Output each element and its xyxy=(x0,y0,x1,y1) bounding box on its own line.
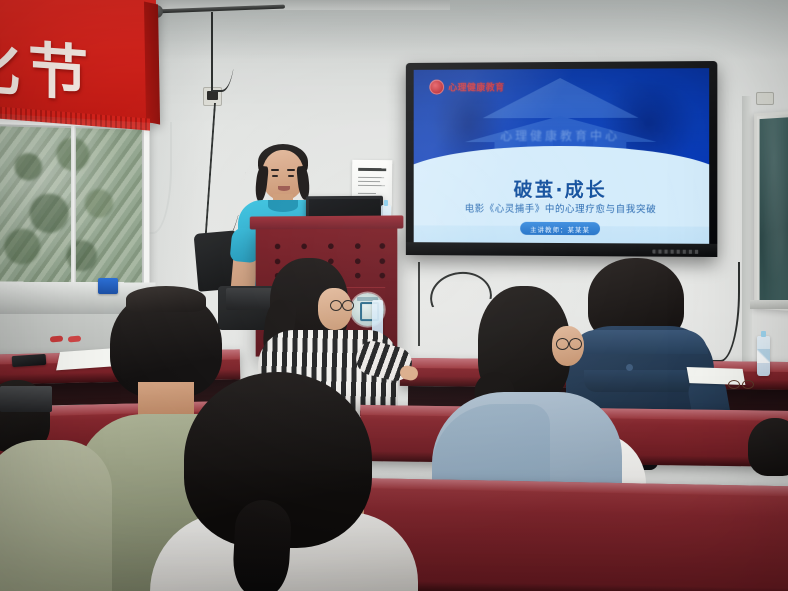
audience-olive-shirt-man-hair-top xyxy=(126,286,206,312)
notice-line xyxy=(358,185,385,187)
chalkboard-surface xyxy=(760,117,788,305)
water-bottle-desk-right xyxy=(757,336,770,376)
podium-top-surface xyxy=(250,215,404,229)
presenter-mouth xyxy=(278,186,290,191)
audience-far-left-person-torso xyxy=(0,440,112,591)
equipment-box-left xyxy=(0,386,52,412)
wall-mounted-tv: 心理健康教育中心 心理健康教育 破茧·成长 电影《心灵捕手》中的心理疗愈与自我突… xyxy=(406,61,717,257)
left-window xyxy=(0,118,149,302)
mobile-phone[interactable] xyxy=(12,354,47,367)
av-equipment-box xyxy=(226,288,272,310)
presenter-eye xyxy=(288,175,294,177)
bottle-label xyxy=(757,349,770,363)
chalk-smudges xyxy=(760,117,788,305)
chalkboard-tray xyxy=(750,300,788,309)
audience-far-right-person-head xyxy=(748,418,788,476)
notice-line xyxy=(358,193,376,195)
presenter-brow xyxy=(271,169,279,171)
presenter-eye xyxy=(272,175,278,177)
classroom-photo-scene: 化节 xyxy=(0,0,788,591)
audience-navy-jacket-flap xyxy=(584,370,698,392)
light-switch[interactable] xyxy=(756,92,774,105)
notice-header-bar xyxy=(358,168,386,171)
tv-indicator-lights xyxy=(652,250,699,254)
tv-screen: 心理健康教育中心 心理健康教育 破茧·成长 电影《心灵捕手》中的心理疗愈与自我突… xyxy=(414,68,710,244)
tv-bottom-bezel xyxy=(406,242,717,257)
eyeglasses-on-desk-icon xyxy=(728,380,754,388)
audience-navy-jacket-shoulder xyxy=(572,330,708,354)
presenter-brow xyxy=(287,169,295,171)
presentation-slide: 心理健康教育中心 心理健康教育 破茧·成长 电影《心灵捕手》中的心理疗愈与自我突… xyxy=(414,68,710,244)
eyeglasses-icon xyxy=(556,338,582,348)
banner-text: 化节 xyxy=(0,17,160,118)
jacket-button xyxy=(626,364,633,371)
slide-presenter-badge: 主讲教师：某某某 xyxy=(520,222,600,235)
window-sill-blue-box xyxy=(98,278,118,294)
right-chalkboard xyxy=(754,110,788,311)
slide-logo-text: 心理健康教育 xyxy=(448,81,504,94)
slide-logo-seal-icon xyxy=(430,80,445,95)
slide-logo: 心理健康教育 xyxy=(430,80,505,95)
eyeglasses-icon xyxy=(330,300,354,309)
audience-ponytail-woman-ponytail xyxy=(232,499,293,591)
window-mullion xyxy=(71,126,76,294)
slide-ghost-text: 心理健康教育中心 xyxy=(414,127,710,144)
notice-line xyxy=(358,181,380,183)
presenter-collar xyxy=(268,200,298,212)
slide-title: 破茧·成长 xyxy=(414,175,710,203)
slide-subtitle: 电影《心灵捕手》中的心理疗愈与自我突破 xyxy=(414,201,710,216)
notice-line xyxy=(358,177,384,179)
